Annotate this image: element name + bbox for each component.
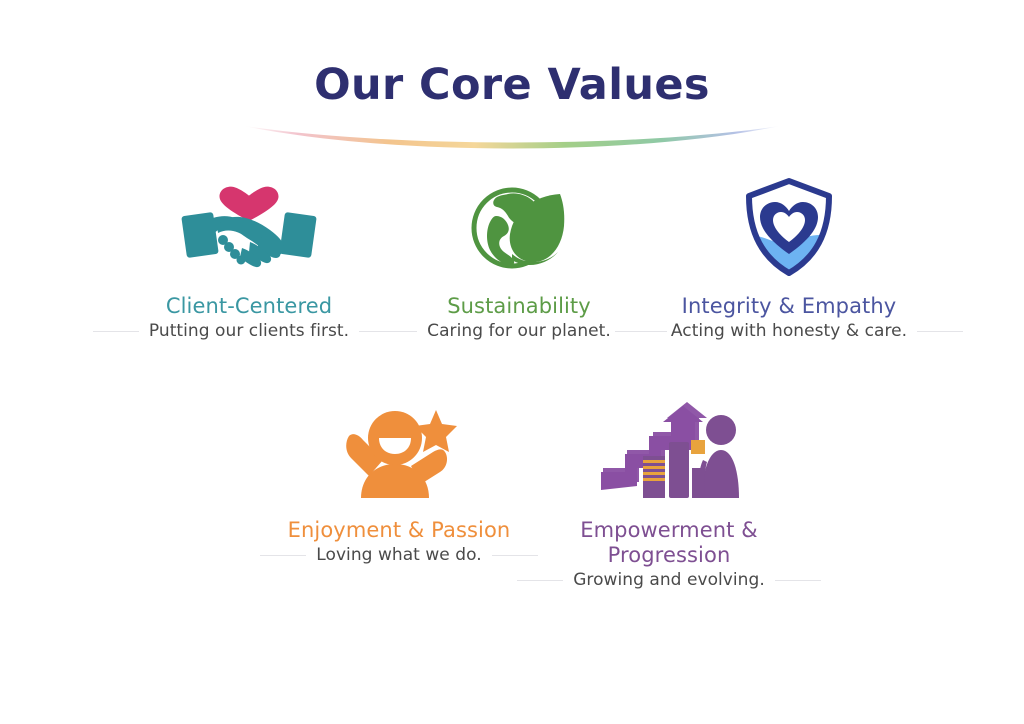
handshake-heart-icon xyxy=(174,176,324,280)
values-row-2: Enjoyment & Passion Loving what we do. xyxy=(0,396,1024,607)
value-card-sustainability[interactable]: Sustainability Caring for our planet. xyxy=(384,172,654,358)
shield-heart-icon xyxy=(739,176,839,280)
value-title: Sustainability xyxy=(447,294,591,319)
values-row-1: Client-Centered Putting our clients firs… xyxy=(0,172,1024,358)
value-card-empowerment-progression[interactable]: Empowerment & Progression Growing and ev… xyxy=(534,396,804,607)
value-description: Growing and evolving. xyxy=(573,570,765,591)
value-description: Acting with honesty & care. xyxy=(671,321,907,342)
core-values-page: Our Core Values xyxy=(0,0,1024,724)
value-description: Putting our clients first. xyxy=(149,321,349,342)
page-header: Our Core Values xyxy=(0,62,1024,109)
growth-chart-person-icon xyxy=(599,400,739,504)
value-title: Enjoyment & Passion xyxy=(288,518,511,543)
value-title: Client-Centered xyxy=(166,294,332,319)
values-grid: Client-Centered Putting our clients firs… xyxy=(0,172,1024,607)
person-star-icon xyxy=(339,400,459,504)
gradient-swoosh-divider xyxy=(0,122,1024,162)
page-title: Our Core Values xyxy=(0,62,1024,109)
globe-leaf-icon xyxy=(464,176,574,280)
value-title: Empowerment & Progression xyxy=(544,518,794,568)
value-description: Caring for our planet. xyxy=(427,321,611,342)
value-description: Loving what we do. xyxy=(316,545,481,566)
value-card-client-centered[interactable]: Client-Centered Putting our clients firs… xyxy=(114,172,384,358)
value-title: Integrity & Empathy xyxy=(682,294,897,319)
value-card-integrity-empathy[interactable]: Integrity & Empathy Acting with honesty … xyxy=(654,172,924,358)
value-card-enjoyment-passion[interactable]: Enjoyment & Passion Loving what we do. xyxy=(264,396,534,582)
